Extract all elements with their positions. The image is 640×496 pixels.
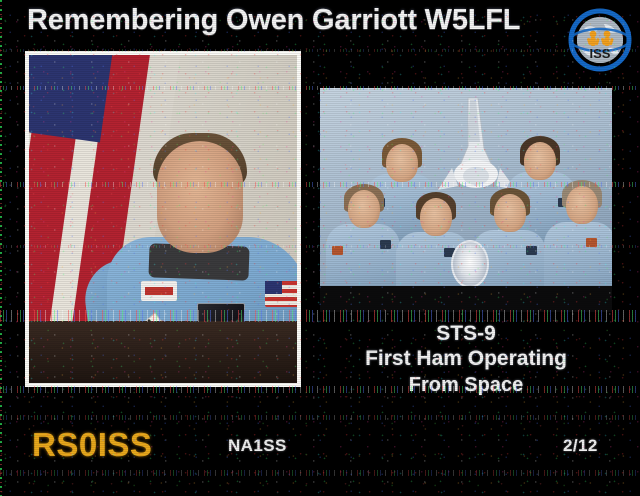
caption-mission: STS-9	[320, 322, 612, 346]
crew-member-face	[420, 198, 452, 236]
page-title: Remembering Owen Garriott W5LFL	[27, 4, 520, 37]
sstv-image-frame: Remembering Owen Garriott W5LFL ISS	[0, 0, 640, 496]
crew-member-patch	[526, 246, 537, 255]
table-foreground	[29, 321, 297, 383]
footer-station-callsign: NA1SS	[228, 436, 287, 456]
footer-image-index: 2/12	[563, 436, 598, 456]
crew-table-foreground	[320, 286, 612, 312]
sstv-noise-band	[0, 470, 640, 476]
sstv-sync-edge	[0, 0, 2, 496]
caption-subtitle-2: From Space	[320, 372, 612, 398]
crew-member-face	[386, 144, 418, 182]
ariss-logo-text: ISS	[590, 46, 611, 61]
owen-garriott-portrait	[25, 51, 301, 387]
portrait-content	[29, 55, 297, 383]
crew-member-patch	[586, 238, 597, 247]
mission-emblem	[451, 240, 489, 288]
caption-block: STS-9 First Ham Operating From Space	[320, 322, 612, 398]
sstv-noise-band	[0, 415, 640, 420]
ariss-logo: ISS	[568, 8, 632, 72]
ariss-logo-svg: ISS	[568, 8, 632, 72]
footer-callsign: RS0ISS	[32, 426, 152, 464]
crew-member-patch	[332, 246, 343, 255]
us-flag-patch	[265, 281, 297, 307]
flag-canton	[29, 55, 113, 143]
face	[157, 141, 243, 253]
nasa-patch	[141, 281, 177, 301]
crew-member-patch	[380, 240, 391, 249]
crew-member-face	[348, 190, 380, 228]
crew-member-face	[494, 194, 526, 232]
caption-subtitle-1: First Ham Operating	[320, 346, 612, 372]
crew-member-face	[566, 186, 598, 224]
crew-member-face	[524, 142, 556, 180]
sts-9-crew-photo	[320, 88, 612, 312]
